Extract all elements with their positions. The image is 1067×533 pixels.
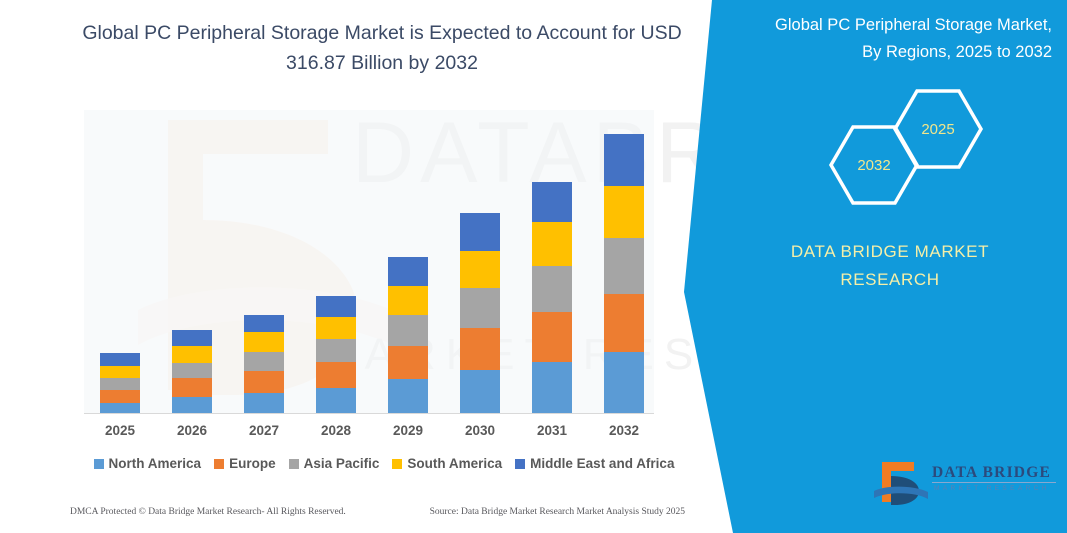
hexagon-group: 2025 2032 bbox=[818, 88, 1018, 208]
footer-source: Source: Data Bridge Market Research Mark… bbox=[430, 507, 685, 517]
bar-segment bbox=[100, 390, 140, 403]
bar-segment bbox=[172, 378, 212, 397]
bar-segment bbox=[100, 353, 140, 366]
legend-label: Europe bbox=[229, 456, 276, 471]
hexagon-year-end: 2032 bbox=[828, 124, 920, 206]
stacked-bar bbox=[604, 134, 644, 414]
bar-segment bbox=[244, 371, 284, 394]
x-axis-label: 2032 bbox=[588, 423, 660, 438]
legend-label: South America bbox=[407, 456, 502, 471]
panel-content: Global PC Peripheral Storage Market, By … bbox=[714, 0, 1067, 533]
bar-segment bbox=[172, 330, 212, 346]
panel-title-line2: By Regions, 2025 to 2032 bbox=[732, 39, 1052, 66]
bar-segment bbox=[388, 346, 428, 380]
legend-item[interactable]: Asia Pacific bbox=[289, 456, 380, 471]
bar-segment bbox=[100, 378, 140, 390]
legend-swatch-icon bbox=[94, 459, 104, 469]
hexagon-year-start-label: 2025 bbox=[921, 121, 954, 138]
bar-segment bbox=[460, 251, 500, 289]
bar-segment bbox=[604, 294, 644, 351]
legend-label: Middle East and Africa bbox=[530, 456, 674, 471]
bar-segment bbox=[316, 339, 356, 362]
bar-segment bbox=[172, 346, 212, 363]
bar-segment bbox=[604, 186, 644, 238]
bar-segment bbox=[172, 397, 212, 414]
category-axis-line bbox=[84, 413, 654, 414]
x-axis-label: 2031 bbox=[516, 423, 588, 438]
panel-title-line1: Global PC Peripheral Storage Market, bbox=[732, 12, 1052, 39]
bar-segment bbox=[100, 366, 140, 379]
bar-segment bbox=[388, 257, 428, 287]
legend-item[interactable]: Middle East and Africa bbox=[515, 456, 674, 471]
x-axis-label: 2030 bbox=[444, 423, 516, 438]
legend-item[interactable]: South America bbox=[392, 456, 502, 471]
panel-title: Global PC Peripheral Storage Market, By … bbox=[732, 12, 1052, 66]
bar-segment bbox=[604, 134, 644, 185]
legend-item[interactable]: Europe bbox=[214, 456, 276, 471]
bar-segment bbox=[388, 286, 428, 315]
bar-segment bbox=[244, 352, 284, 371]
bar-segment bbox=[532, 312, 572, 361]
data-bridge-logo-icon bbox=[874, 458, 928, 508]
legend-swatch-icon bbox=[289, 459, 299, 469]
stacked-bar bbox=[532, 182, 572, 414]
bar-segment bbox=[460, 288, 500, 328]
page-title: Global PC Peripheral Storage Market is E… bbox=[62, 18, 702, 78]
bar-segment bbox=[244, 332, 284, 352]
bar-segment bbox=[460, 328, 500, 371]
logo-wordmark: DATA BRIDGE bbox=[932, 464, 1051, 482]
bar-segment bbox=[316, 296, 356, 317]
stacked-bar bbox=[388, 257, 428, 414]
chart-legend: North AmericaEuropeAsia PacificSouth Ame… bbox=[84, 456, 684, 471]
brand-name-line1: DATA BRIDGE MARKET bbox=[740, 238, 1040, 266]
bar-segment bbox=[172, 363, 212, 379]
legend-swatch-icon bbox=[515, 459, 525, 469]
stacked-bar bbox=[244, 315, 284, 414]
bar-segment bbox=[604, 352, 644, 414]
stacked-bar bbox=[316, 296, 356, 414]
x-axis-labels: 20252026202720282029203020312032 bbox=[84, 423, 654, 445]
footer: DMCA Protected © Data Bridge Market Rese… bbox=[70, 507, 685, 517]
legend-item[interactable]: North America bbox=[94, 456, 202, 471]
bar-segment bbox=[316, 317, 356, 339]
infographic-canvas: DATABRIDGE MARKET RESEARCH Global PC Per… bbox=[0, 0, 1067, 533]
bar-segment bbox=[532, 266, 572, 312]
stacked-bar bbox=[172, 330, 212, 414]
company-logo: DATA BRIDGE MARKET RESEARCH bbox=[874, 458, 1064, 510]
bar-segment bbox=[604, 238, 644, 294]
x-axis-label: 2029 bbox=[372, 423, 444, 438]
x-axis-label: 2026 bbox=[156, 423, 228, 438]
bar-segment bbox=[532, 362, 572, 414]
legend-label: North America bbox=[109, 456, 202, 471]
logo-divider bbox=[932, 482, 1056, 483]
bar-segment bbox=[244, 393, 284, 414]
stacked-bar bbox=[100, 353, 140, 414]
x-axis-label: 2025 bbox=[84, 423, 156, 438]
brand-name: DATA BRIDGE MARKET RESEARCH bbox=[740, 238, 1040, 294]
bar-segment bbox=[460, 213, 500, 251]
bar-segment bbox=[316, 388, 356, 414]
legend-swatch-icon bbox=[392, 459, 402, 469]
bar-chart-plot bbox=[84, 108, 654, 414]
bar-segment bbox=[388, 315, 428, 346]
bar-segment bbox=[460, 370, 500, 414]
bar-segment bbox=[388, 379, 428, 414]
legend-swatch-icon bbox=[214, 459, 224, 469]
legend-label: Asia Pacific bbox=[304, 456, 380, 471]
bar-segment bbox=[532, 182, 572, 223]
x-axis-label: 2028 bbox=[300, 423, 372, 438]
brand-name-line2: RESEARCH bbox=[740, 266, 1040, 294]
bar-segment bbox=[532, 222, 572, 266]
footer-copyright: DMCA Protected © Data Bridge Market Rese… bbox=[70, 507, 346, 517]
hexagon-year-end-label: 2032 bbox=[857, 157, 890, 174]
stacked-bar bbox=[460, 213, 500, 414]
bar-segment bbox=[316, 362, 356, 389]
x-axis-label: 2027 bbox=[228, 423, 300, 438]
bar-segment bbox=[244, 315, 284, 332]
logo-tagline: MARKET RESEARCH bbox=[934, 485, 1050, 492]
